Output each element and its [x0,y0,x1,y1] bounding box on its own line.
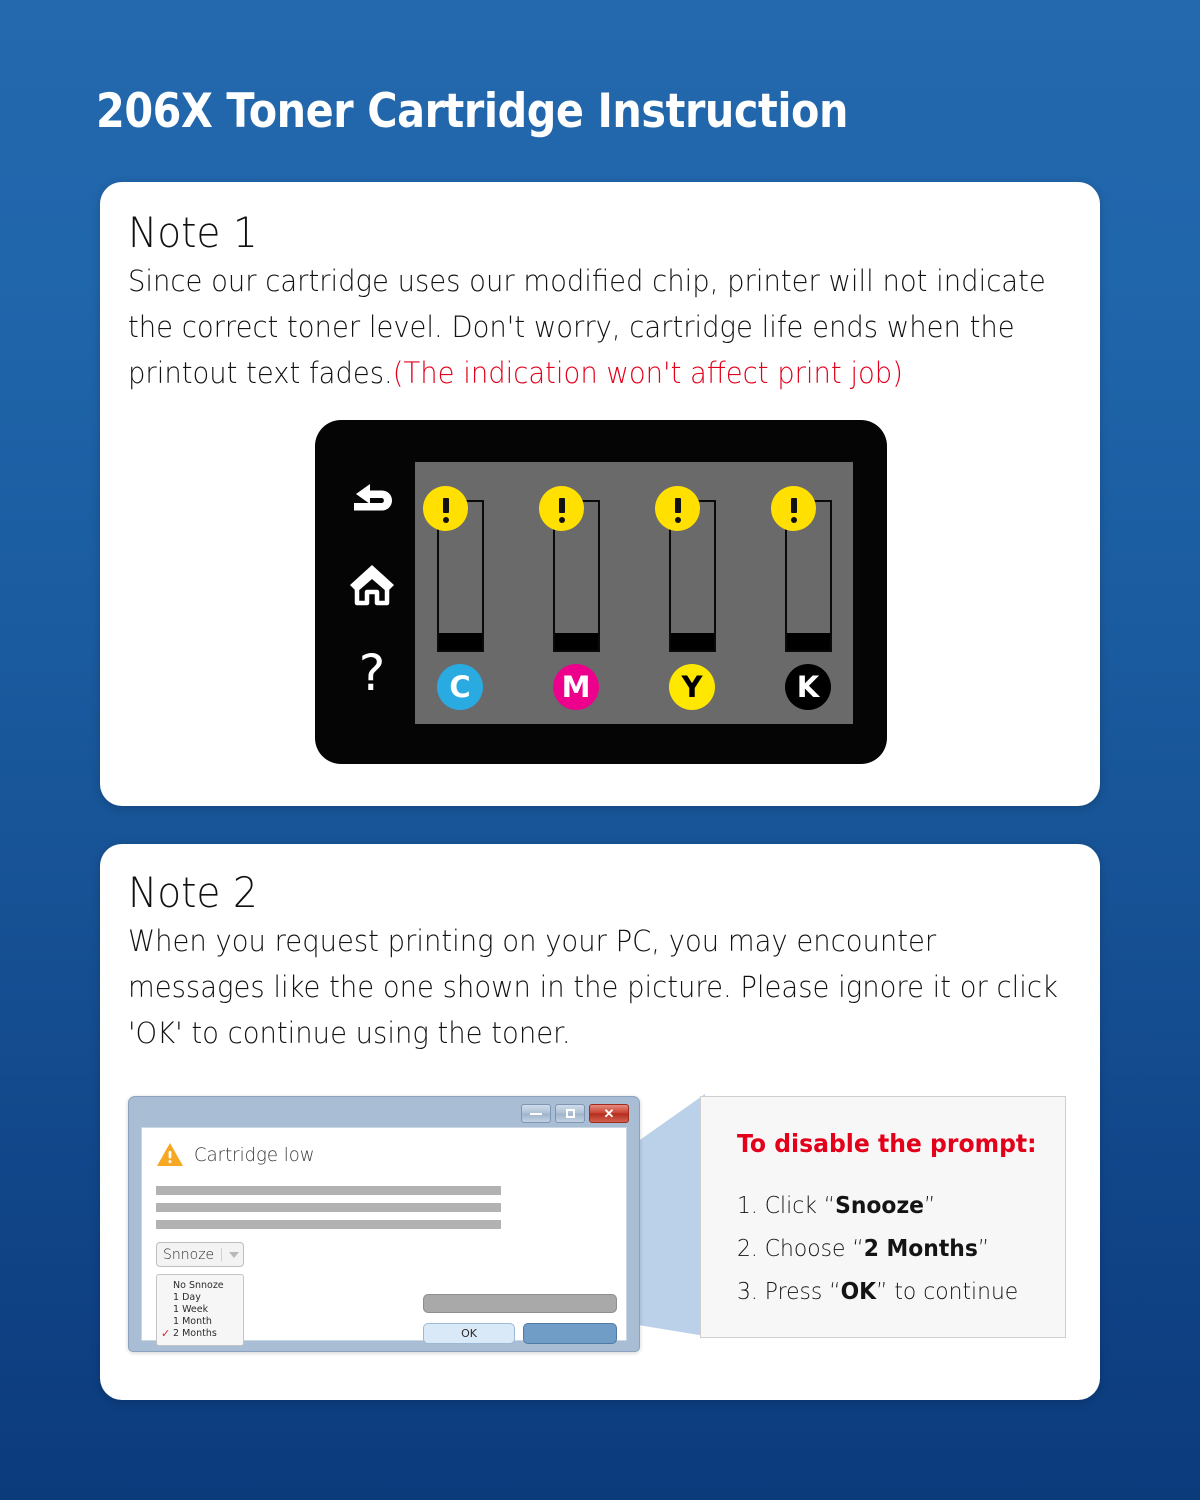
printer-side-icons: ? [333,470,411,720]
toner-color-chip-k: K [785,664,831,710]
toner-fill [787,633,830,650]
note1-heading: Note 1 [128,208,258,257]
snooze-option-label: 1 Day [173,1292,201,1304]
maximize-button[interactable] [555,1104,585,1123]
toner-gauge-magenta: M [553,486,600,710]
print-warning-dialog: ✕ Cartridge low Snnoze | [128,1096,640,1352]
step-text-bold: OK [841,1279,877,1305]
note2-body: When you request printing on your PC, yo… [128,918,1077,1056]
toner-fill [555,633,598,650]
placeholder-bar [156,1203,501,1212]
note1-body-red-text: (The indication won't affect print job) [393,356,903,390]
dialog-gray-field [423,1294,617,1313]
toner-gauge-cyan: C [437,486,484,710]
step-text-bold: 2 Months [864,1236,978,1262]
instruction-step: 1. Click “Snooze” [737,1185,1018,1228]
snooze-option-label: 1 Month [173,1316,212,1328]
toner-fill [671,633,714,650]
snooze-dropdown-button[interactable]: Snnoze | [156,1242,244,1267]
warning-triangle-icon [156,1142,184,1167]
toner-color-chip-y: Y [669,664,715,710]
snooze-option-label: 2 Months [173,1328,217,1340]
step-text-post: ” to continue [876,1279,1018,1305]
snooze-option-selected[interactable]: ✓ 2 Months [157,1328,239,1340]
placeholder-bar [156,1220,501,1229]
dialog-titlebar: ✕ [521,1104,629,1123]
step-text-pre: Press “ [765,1279,841,1305]
chevron-down-icon [229,1252,239,1258]
instruction-title: To disable the prompt: [737,1129,1037,1158]
help-icon[interactable]: ? [359,648,386,698]
dialog-warning-title: Cartridge low [194,1144,315,1166]
toner-gauge-black: K [785,486,832,710]
step-number: 2. [737,1236,758,1262]
warning-badge-icon [655,486,700,531]
instruction-steps: 1. Click “Snooze” 2. Choose “2 Months” 3… [737,1185,1018,1314]
snooze-option[interactable]: 1 Day [157,1292,239,1304]
page-title: 206X Toner Cartridge Instruction [96,84,848,139]
home-icon[interactable] [347,562,397,606]
step-text-bold: Snooze [835,1193,924,1219]
step-text-post: ” [978,1236,989,1262]
instruction-step: 2. Choose “2 Months” [737,1228,1018,1271]
step-text-pre: Click “ [765,1193,835,1219]
toner-color-chip-m: M [553,664,599,710]
toner-gauge-yellow: Y [669,486,716,710]
check-icon: ✓ [161,1328,173,1340]
close-button[interactable]: ✕ [589,1104,629,1123]
snooze-option[interactable]: 1 Week [157,1304,239,1316]
back-icon[interactable] [346,480,398,520]
snooze-option[interactable]: No Snnoze [157,1280,239,1292]
step-text-pre: Choose “ [765,1236,864,1262]
toner-fill [439,633,482,650]
snooze-option-label: 1 Week [173,1304,208,1316]
toner-gauges: C M Y [437,486,831,710]
warning-badge-icon [539,486,584,531]
step-number: 3. [737,1279,758,1305]
warning-badge-icon [423,486,468,531]
snooze-options-list[interactable]: No Snnoze 1 Day 1 Week 1 Month ✓ 2 Month… [156,1274,244,1346]
printer-control-panel: ? C M [315,420,887,764]
printer-screen: C M Y [415,462,853,724]
note2-card: Note 2 When you request printing on your… [100,844,1100,1400]
placeholder-bar [156,1186,501,1195]
dialog-secondary-button[interactable] [523,1323,617,1344]
instruction-panel: To disable the prompt: 1. Click “Snooze”… [700,1096,1066,1338]
dialog-body: Cartridge low Snnoze | No Snnoze 1 Day [141,1127,627,1341]
dialog-warning-row: Cartridge low [156,1142,321,1167]
minimize-button[interactable] [521,1104,551,1123]
ok-button[interactable]: OK [423,1323,515,1344]
step-number: 1. [737,1193,758,1219]
note1-body: Since our cartridge uses our modified ch… [128,258,1077,396]
warning-badge-icon [771,486,816,531]
toner-color-chip-c: C [437,664,483,710]
note1-card: Note 1 Since our cartridge uses our modi… [100,182,1100,806]
snooze-separator: | [219,1247,223,1262]
instruction-step: 3. Press “OK” to continue [737,1271,1018,1314]
snooze-option-label: No Snnoze [173,1280,224,1292]
step-text-post: ” [924,1193,935,1219]
snooze-dropdown-label: Snnoze [163,1247,214,1263]
note2-heading: Note 2 [128,868,258,917]
